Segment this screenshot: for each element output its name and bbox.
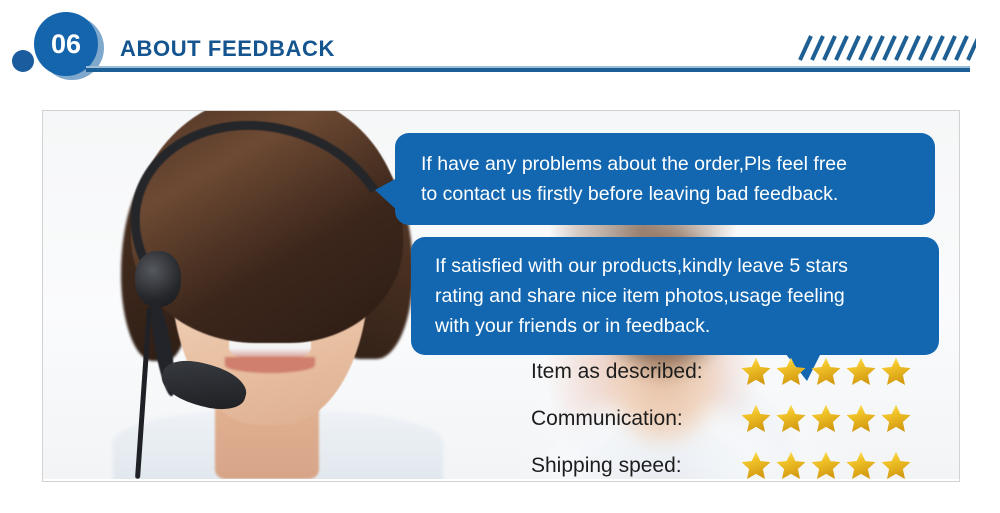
star-filled-icon xyxy=(879,402,913,436)
slash-icon xyxy=(848,36,859,60)
header-dot-icon xyxy=(12,50,34,72)
rating-stars-shipping-speed xyxy=(739,449,913,483)
slash-icon xyxy=(944,36,955,60)
slash-icon xyxy=(860,36,871,60)
rating-row: Item as described: xyxy=(531,349,951,394)
bubble-five-stars: If satisfied with our products,kindly le… xyxy=(411,237,939,355)
rating-row: Shipping speed: xyxy=(531,443,951,482)
diagonal-slashes-icon xyxy=(796,30,976,64)
headset-earcup-icon xyxy=(135,251,181,307)
slash-icon xyxy=(920,36,931,60)
star-filled-icon xyxy=(809,355,843,389)
slash-icon xyxy=(812,36,823,60)
bubble-tail-left-icon xyxy=(375,177,399,212)
star-filled-icon xyxy=(774,449,808,483)
slash-icon xyxy=(884,36,895,60)
star-filled-icon xyxy=(809,402,843,436)
slash-icon xyxy=(968,36,976,60)
slash-icon xyxy=(908,36,919,60)
star-filled-icon xyxy=(739,355,773,389)
star-filled-icon xyxy=(844,355,878,389)
star-filled-icon xyxy=(844,402,878,436)
star-filled-icon xyxy=(774,402,808,436)
star-filled-icon xyxy=(879,449,913,483)
rating-stars-communication xyxy=(739,402,913,436)
star-filled-icon xyxy=(739,402,773,436)
slash-icon xyxy=(956,36,967,60)
page-title: ABOUT FEEDBACK xyxy=(120,36,335,62)
bubble-five-stars-text: If satisfied with our products,kindly le… xyxy=(435,251,919,341)
ratings-list: Item as described: Communication: Shippi… xyxy=(531,349,951,482)
rating-row: Communication: xyxy=(531,396,951,441)
bubble-order-problem: If have any problems about the order,Pls… xyxy=(395,133,935,225)
rating-label-item-as-described: Item as described: xyxy=(531,360,739,384)
feedback-banner: 06 ABOUT FEEDBACK xyxy=(0,0,1000,513)
star-filled-icon xyxy=(739,449,773,483)
feedback-panel: If have any problems about the order,Pls… xyxy=(42,110,960,482)
star-filled-icon xyxy=(844,449,878,483)
header-rule-dark xyxy=(86,68,970,72)
rating-stars-item-as-described xyxy=(739,355,913,389)
slash-icon xyxy=(932,36,943,60)
star-filled-icon xyxy=(774,355,808,389)
section-header: 06 ABOUT FEEDBACK xyxy=(0,0,1000,96)
slash-icon xyxy=(836,36,847,60)
star-filled-icon xyxy=(879,355,913,389)
slash-icon xyxy=(824,36,835,60)
star-filled-icon xyxy=(809,449,843,483)
bubble-order-problem-text: If have any problems about the order,Pls… xyxy=(421,149,913,209)
slash-icon xyxy=(896,36,907,60)
slash-icon xyxy=(872,36,883,60)
agent-lower-lip xyxy=(225,357,315,373)
slash-icon xyxy=(800,36,811,60)
rating-label-shipping-speed: Shipping speed: xyxy=(531,454,739,478)
rating-label-communication: Communication: xyxy=(531,407,739,431)
